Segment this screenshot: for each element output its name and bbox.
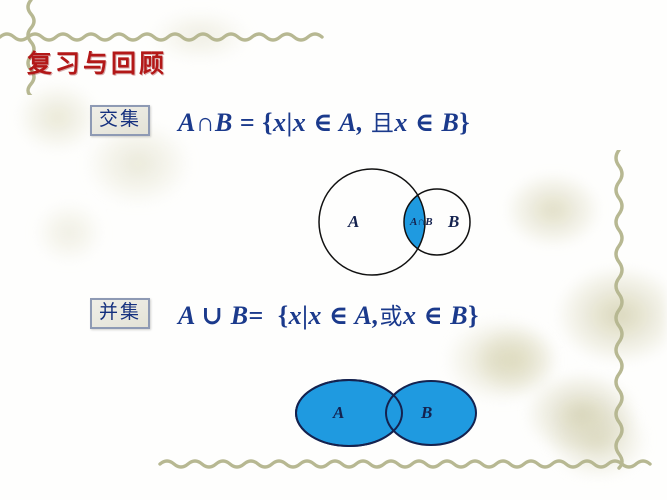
formula-intersection-element: x	[273, 108, 287, 137]
page-title: 复习与回顾	[27, 44, 167, 80]
venn-union-ellipse-b	[386, 381, 476, 445]
decorative-border-top	[0, 28, 330, 44]
formula-intersection-equals: =	[240, 108, 255, 137]
formula-union-connector: 或	[379, 304, 403, 330]
formula-union-lhs: A ∪ B	[178, 301, 249, 330]
venn-diagram-intersection: A A∩B B	[300, 160, 500, 290]
formula-union-element: x	[289, 301, 303, 330]
formula-intersection-cond1: x ∈ A,	[293, 108, 364, 137]
decorative-border-right	[610, 150, 628, 470]
formula-intersection-cond2: x ∈ B	[394, 108, 459, 137]
formula-intersection-lhs: A∩B	[178, 108, 233, 137]
formula-union-equals: =	[249, 301, 264, 330]
formula-union: A ∪ B= {x|x ∈ A,或x ∈ B}	[178, 297, 479, 331]
formula-intersection: A∩B = {x|x ∈ A, 且x ∈ B}	[178, 104, 470, 138]
decorative-border-bottom	[0, 455, 667, 471]
venn-intersection-svg	[300, 160, 500, 290]
slide-canvas: 复习与回顾 交集 A∩B = {x|x ∈ A, 且x ∈ B} A A∩B B…	[0, 0, 667, 500]
label-chip-union: 并集	[90, 298, 150, 329]
formula-union-set-open: {	[278, 301, 289, 330]
formula-intersection-set-open: {	[262, 108, 273, 137]
watermark-floral-right	[477, 150, 667, 450]
venn-union-svg	[285, 370, 495, 455]
formula-intersection-connector: 且	[371, 111, 395, 137]
formula-union-cond1: x ∈ A,	[308, 301, 379, 330]
formula-union-cond2: x ∈ B	[403, 301, 468, 330]
formula-union-set-close: }	[468, 301, 479, 330]
venn-diagram-union: A B	[285, 370, 495, 455]
formula-intersection-set-close: }	[459, 108, 470, 137]
label-chip-intersection: 交集	[90, 105, 150, 136]
watermark-floral-left	[0, 60, 230, 290]
